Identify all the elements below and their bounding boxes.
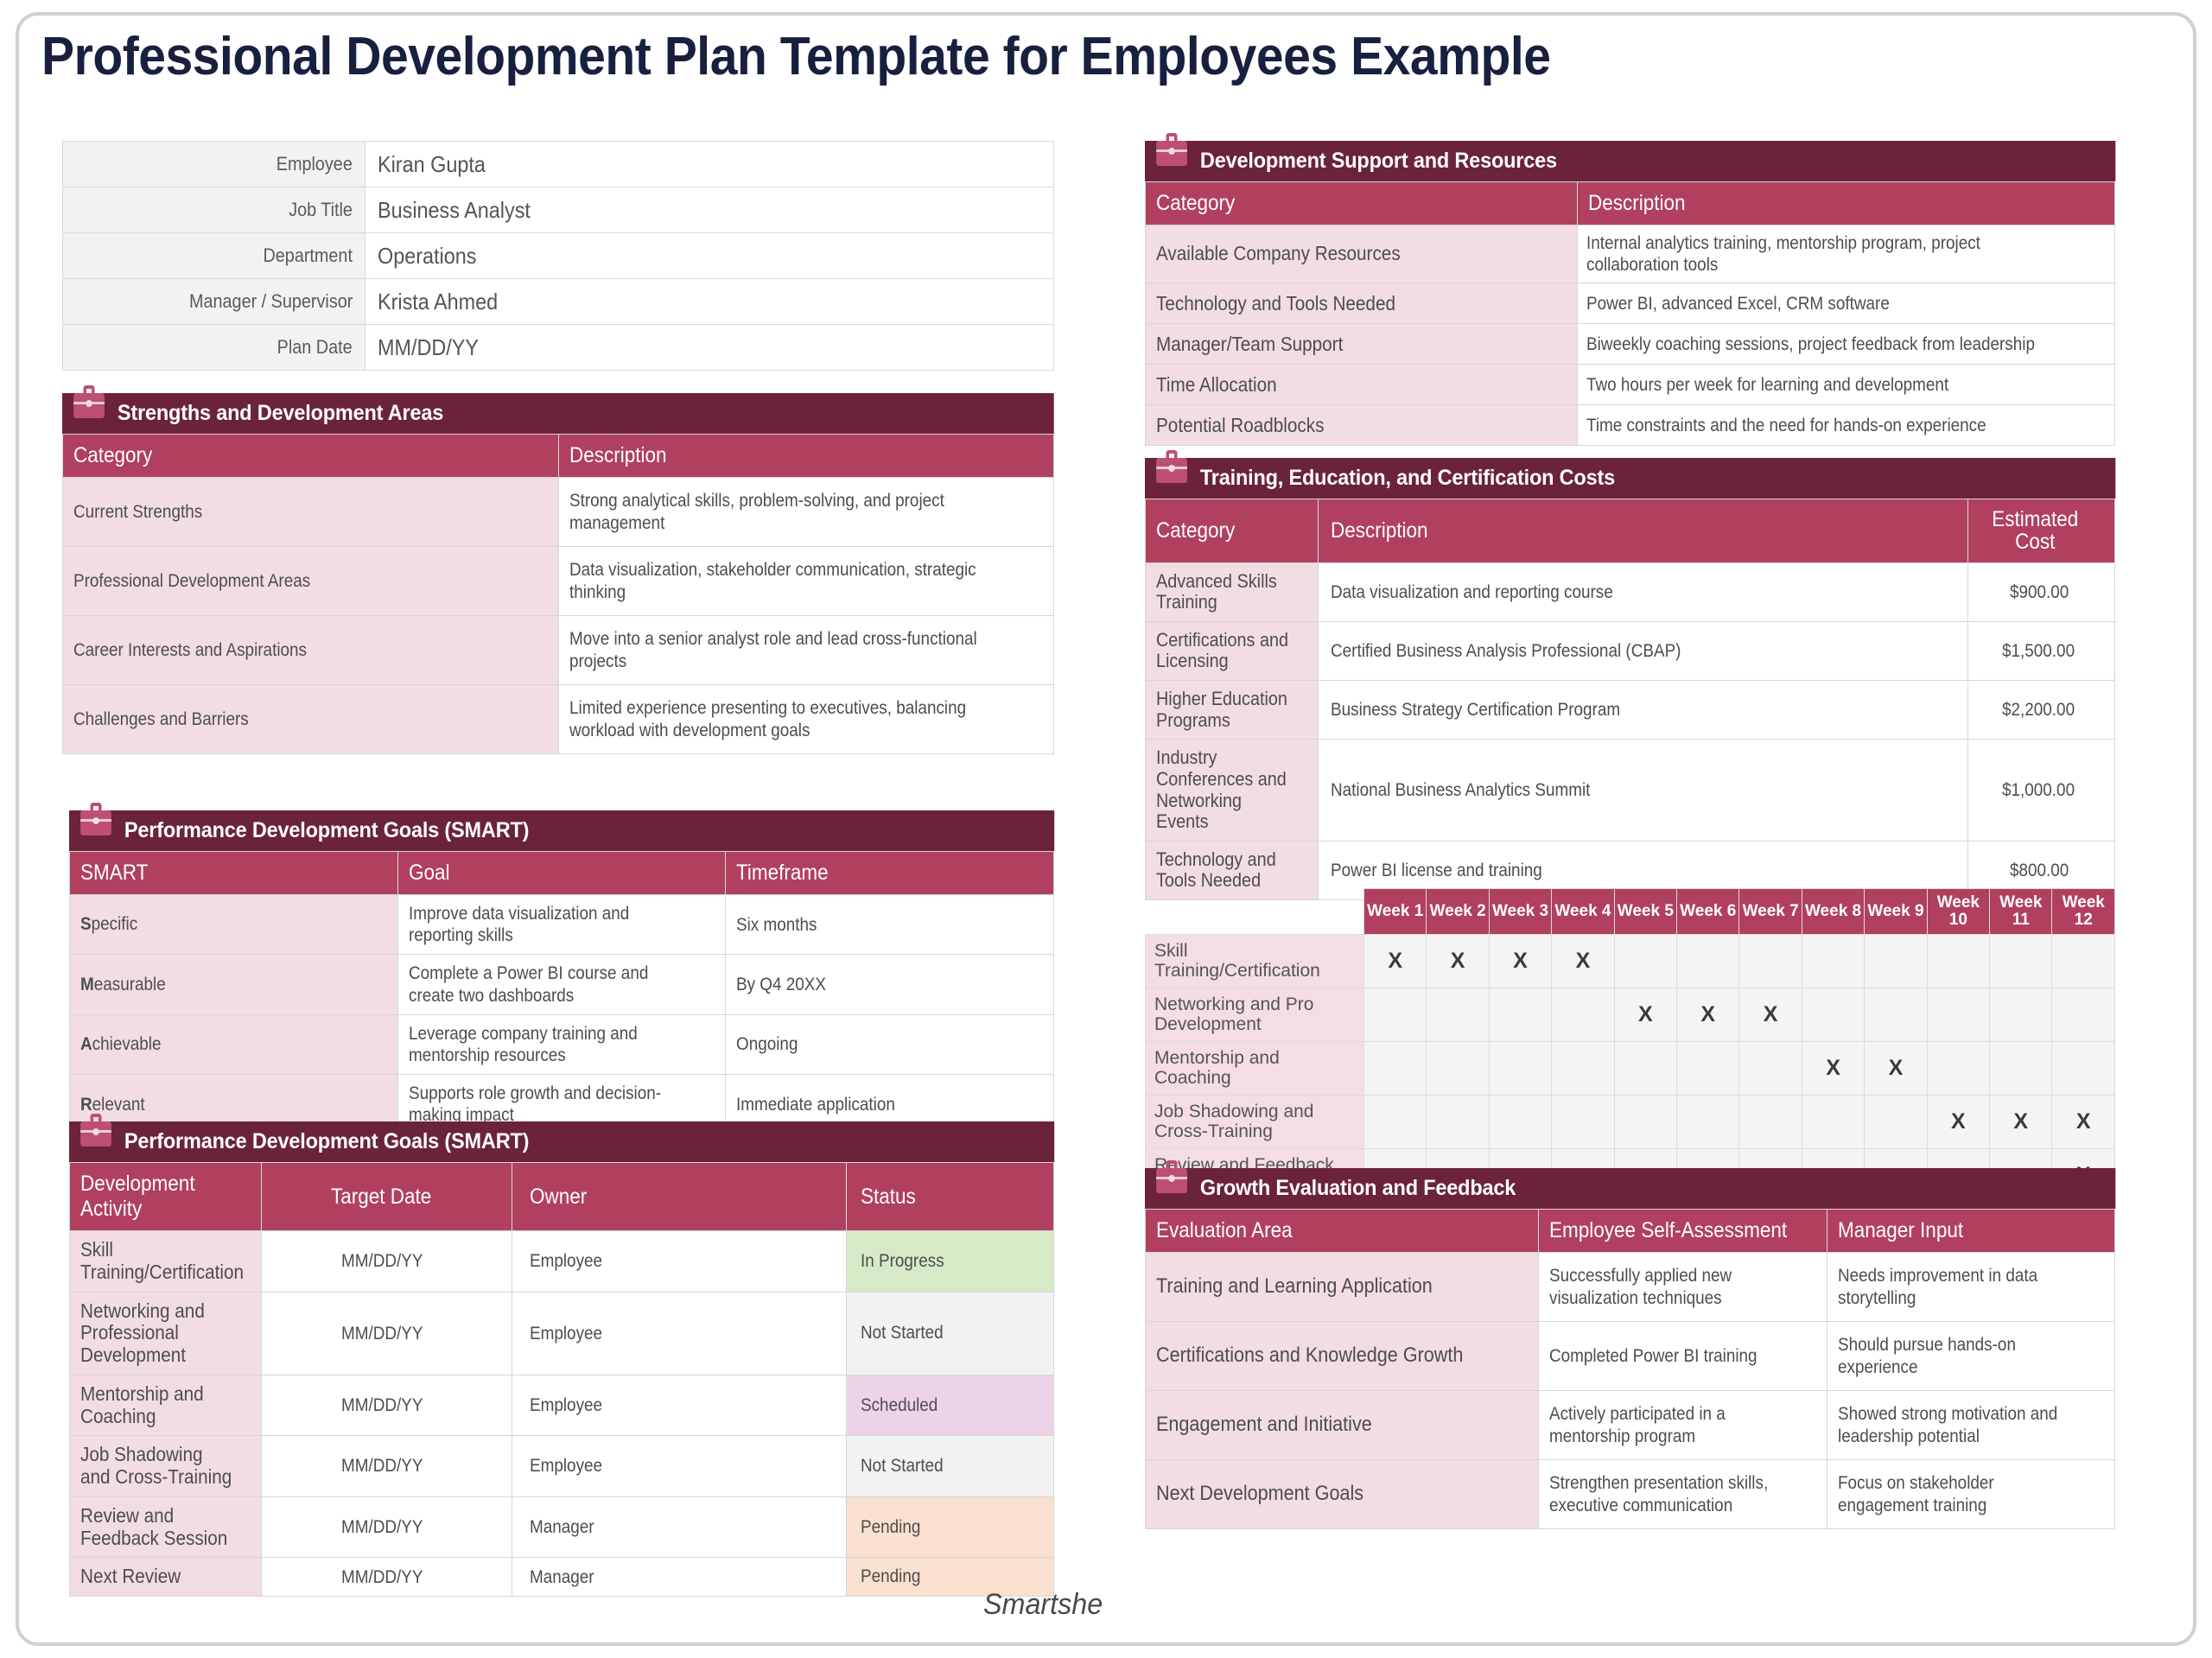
schedule-cell[interactable] (1927, 1041, 1989, 1095)
schedule-cell[interactable] (1552, 988, 1614, 1041)
schedule-cell[interactable] (1739, 1095, 1802, 1148)
schedule-cell[interactable] (1489, 988, 1551, 1041)
row-target-date[interactable]: MM/DD/YY (262, 1496, 512, 1558)
week-column-header: Week 2 (1427, 889, 1489, 935)
row-target-date[interactable]: MM/DD/YY (262, 1231, 512, 1293)
schedule-row-label: Mentorship and Coaching (1146, 1041, 1364, 1095)
status-badge[interactable]: Scheduled (847, 1375, 1054, 1436)
info-label: Department (63, 233, 365, 279)
row-category: Professional Development Areas (63, 547, 559, 616)
table-row: Training and Learning ApplicationSuccess… (1146, 1253, 2115, 1322)
schedule-cell[interactable]: X (1489, 934, 1551, 988)
row-description: Data visualization and reporting course (1319, 562, 1968, 621)
column-header-category: Category (1146, 499, 1319, 563)
row-target-date[interactable]: MM/DD/YY (262, 1292, 512, 1375)
row-owner: Manager (512, 1496, 847, 1558)
schedule-cell[interactable]: X (1739, 988, 1802, 1041)
row-owner: Employee (512, 1375, 847, 1436)
schedule-cell[interactable]: X (1364, 934, 1427, 988)
table-row: Advanced Skills TrainingData visualizati… (1146, 562, 2115, 621)
row-category: Potential Roadblocks (1146, 405, 1578, 446)
table-row: Manager/Team SupportBiweekly coaching se… (1146, 324, 2115, 365)
table-row: Time AllocationTwo hours per week for le… (1146, 365, 2115, 405)
schedule-cell[interactable] (1364, 988, 1427, 1041)
row-category: Higher Education Programs (1146, 681, 1319, 740)
schedule-cell[interactable] (1865, 934, 1927, 988)
row-description: Strong analytical skills, problem-solvin… (558, 478, 1054, 547)
row-manager-input: Needs improvement in data storytelling (1827, 1253, 2115, 1322)
row-activity: Networking and Professional Development (70, 1292, 262, 1375)
week-column-header: Week 7 (1739, 889, 1802, 935)
schedule-cell[interactable] (1927, 988, 1989, 1041)
info-label: Employee (63, 142, 365, 187)
info-value[interactable]: Krista Ahmed (365, 279, 1054, 325)
info-label: Job Title (63, 187, 365, 233)
schedule-cell[interactable]: X (1865, 1041, 1927, 1095)
column-header-timeframe: Timeframe (726, 852, 1054, 895)
status-badge[interactable]: Not Started (847, 1436, 1054, 1497)
row-target-date[interactable]: MM/DD/YY (262, 1375, 512, 1436)
employee-info-row: DepartmentOperations (63, 233, 1054, 279)
column-header-category: Category (1146, 182, 1578, 226)
row-activity: Job Shadowing and Cross-Training (70, 1436, 262, 1497)
row-category: Manager/Team Support (1146, 324, 1578, 365)
row-category: Certifications and Licensing (1146, 621, 1319, 680)
page-root: Professional Development Plan Template f… (0, 0, 2212, 1658)
info-value[interactable]: MM/DD/YY (365, 325, 1054, 371)
row-self-assessment: Strengthen presentation skills, executiv… (1539, 1460, 1827, 1529)
row-description: Power BI, advanced Excel, CRM software (1578, 283, 2115, 324)
table-row: Next Development GoalsStrengthen present… (1146, 1460, 2115, 1529)
schedule-cell[interactable] (1677, 1041, 1739, 1095)
column-header-target-date: Target Date (262, 1163, 512, 1231)
employee-info-row: Manager / SupervisorKrista Ahmed (63, 279, 1054, 325)
section-header: Strengths and Development Areas (62, 393, 1054, 434)
growth-evaluation-section: Growth Evaluation and Feedback Evaluatio… (1145, 1168, 2115, 1529)
row-manager-input: Showed strong motivation and leadership … (1827, 1391, 2115, 1460)
info-value[interactable]: Operations (365, 233, 1054, 279)
section-header: Growth Evaluation and Feedback (1145, 1168, 2115, 1209)
schedule-cell[interactable] (1802, 1095, 1864, 1148)
row-goal: Complete a Power BI course and create tw… (397, 955, 726, 1014)
schedule-cell[interactable] (1427, 1095, 1489, 1148)
row-category: Current Strengths (63, 478, 559, 547)
info-label: Manager / Supervisor (63, 279, 365, 325)
schedule-cell[interactable]: X (1990, 1095, 2052, 1148)
week-column-header: Week 11 (1990, 889, 2052, 935)
page-title: Professional Development Plan Template f… (41, 26, 1997, 87)
schedule-cell[interactable]: X (1802, 1041, 1864, 1095)
costs-section: Training, Education, and Certification C… (1145, 458, 2115, 900)
row-goal: Improve data visualization and reporting… (397, 895, 726, 955)
section-title: Growth Evaluation and Feedback (1200, 1176, 1516, 1201)
column-header-owner: Owner (512, 1163, 847, 1231)
schedule-cell[interactable] (1427, 1041, 1489, 1095)
row-description: Two hours per week for learning and deve… (1578, 365, 2115, 405)
schedule-cell[interactable] (1489, 1041, 1551, 1095)
row-timeframe: Ongoing (726, 1014, 1054, 1074)
strengths-section: Strengths and Development Areas Category… (62, 393, 1054, 754)
row-owner: Manager (512, 1558, 847, 1597)
table-row: Current StrengthsStrong analytical skill… (63, 478, 1054, 547)
schedule-cell[interactable]: X (1427, 934, 1489, 988)
week-column-header: Week 1 (1364, 889, 1427, 935)
employee-info-row: EmployeeKiran Gupta (63, 142, 1054, 187)
schedule-cell[interactable]: X (1552, 934, 1614, 988)
row-description: National Business Analytics Summit (1319, 740, 1968, 842)
briefcase-icon (80, 803, 111, 835)
row-evaluation-area: Next Development Goals (1146, 1460, 1539, 1529)
schedule-row-label: Skill Training/Certification (1146, 934, 1364, 988)
table-row: Networking and Professional DevelopmentM… (70, 1292, 1054, 1375)
schedule-cell[interactable] (1865, 988, 1927, 1041)
row-smart-letter: Achievable (70, 1014, 398, 1074)
row-description: Limited experience presenting to executi… (558, 685, 1054, 754)
table-row: Challenges and BarriersLimited experienc… (63, 685, 1054, 754)
row-category: Career Interests and Aspirations (63, 616, 559, 685)
column-header-description: Description (1319, 499, 1968, 563)
section-header: Performance Development Goals (SMART) (69, 810, 1054, 851)
table-row: Job Shadowing and Cross-TrainingMM/DD/YY… (70, 1436, 1054, 1497)
table-row: Industry Conferences and Networking Even… (1146, 740, 2115, 842)
column-header-category: Category (63, 435, 559, 478)
row-manager-input: Should pursue hands-on experience (1827, 1322, 2115, 1391)
schedule-cell[interactable] (2052, 1041, 2115, 1095)
schedule-cell[interactable] (1927, 934, 1989, 988)
row-description: Business Strategy Certification Program (1319, 681, 1968, 740)
table-row: Engagement and InitiativeActively partic… (1146, 1391, 2115, 1460)
status-badge[interactable]: Pending (847, 1496, 1054, 1558)
row-activity: Next Review (70, 1558, 262, 1597)
section-header: Performance Development Goals (SMART) (69, 1121, 1054, 1162)
table-row: Certifications and Knowledge GrowthCompl… (1146, 1322, 2115, 1391)
week-column-header: Week 8 (1802, 889, 1864, 935)
week-column-header: Week 3 (1489, 889, 1551, 935)
schedule-row: Networking and Pro DevelopmentXXX (1146, 988, 2115, 1041)
row-timeframe: Six months (726, 895, 1054, 955)
table-row: Certifications and LicensingCertified Bu… (1146, 621, 2115, 680)
table-row: Higher Education ProgramsBusiness Strate… (1146, 681, 2115, 740)
table-row: Available Company ResourcesInternal anal… (1146, 226, 2115, 283)
status-badge[interactable]: Not Started (847, 1292, 1054, 1375)
row-category: Challenges and Barriers (63, 685, 559, 754)
employee-info-table: EmployeeKiran GuptaJob TitleBusiness Ana… (62, 141, 1054, 371)
info-value[interactable]: Kiran Gupta (365, 142, 1054, 187)
week-column-header: Week 6 (1677, 889, 1739, 935)
row-timeframe: By Q4 20XX (726, 955, 1054, 1014)
week-column-header: Week 12 (2052, 889, 2115, 935)
row-estimated-cost: $2,200.00 (1968, 681, 2115, 740)
schedule-cell[interactable] (1489, 1095, 1551, 1148)
schedule-cell[interactable] (1427, 988, 1489, 1041)
table-row: Review and Feedback SessionMM/DD/YYManag… (70, 1496, 1054, 1558)
schedule-row: Job Shadowing and Cross-TrainingXXX (1146, 1095, 2115, 1148)
row-self-assessment: Completed Power BI training (1539, 1322, 1827, 1391)
schedule-cell[interactable] (1990, 988, 2052, 1041)
row-category: Advanced Skills Training (1146, 562, 1319, 621)
row-description: Internal analytics training, mentorship … (1578, 226, 2115, 283)
schedule-cell[interactable] (1364, 1041, 1427, 1095)
column-header-self-assessment: Employee Self-Assessment (1539, 1210, 1827, 1253)
section-title: Performance Development Goals (SMART) (124, 1129, 529, 1154)
column-header-activity: Development Activity (70, 1163, 262, 1231)
schedule-cell[interactable] (1677, 1095, 1739, 1148)
table-row: Next ReviewMM/DD/YYManagerPending (70, 1558, 1054, 1597)
row-description: Move into a senior analyst role and lead… (558, 616, 1054, 685)
week-column-header: Week 4 (1552, 889, 1614, 935)
row-category: Technology and Tools Needed (1146, 283, 1578, 324)
column-header-description: Description (558, 435, 1054, 478)
column-header-evaluation-area: Evaluation Area (1146, 1210, 1539, 1253)
section-header: Training, Education, and Certification C… (1145, 458, 2115, 499)
briefcase-icon (1156, 133, 1187, 166)
row-goal: Leverage company training and mentorship… (397, 1014, 726, 1074)
row-activity: Skill Training/Certification (70, 1231, 262, 1293)
column-header-estimated-cost: Estimated Cost (1968, 499, 2115, 563)
row-description: Time constraints and the need for hands-… (1578, 405, 2115, 446)
table-row: SpecificImprove data visualization and r… (70, 895, 1054, 955)
row-target-date[interactable]: MM/DD/YY (262, 1436, 512, 1497)
schedule-row-label: Job Shadowing and Cross-Training (1146, 1095, 1364, 1148)
row-evaluation-area: Engagement and Initiative (1146, 1391, 1539, 1460)
schedule-cell[interactable] (2052, 934, 2115, 988)
schedule-row: Skill Training/CertificationXXXX (1146, 934, 2115, 988)
schedule-cell[interactable] (1739, 1041, 1802, 1095)
column-header-status: Status (847, 1163, 1054, 1231)
schedule-cell[interactable] (1990, 1041, 2052, 1095)
info-value[interactable]: Business Analyst (365, 187, 1054, 233)
section-title: Performance Development Goals (SMART) (124, 818, 529, 843)
briefcase-icon (80, 1114, 111, 1147)
row-self-assessment: Actively participated in a mentorship pr… (1539, 1391, 1827, 1460)
weekly-schedule-grid: Week 1Week 2Week 3Week 4Week 5Week 6Week… (1145, 888, 2115, 1203)
briefcase-icon (1156, 450, 1187, 483)
row-manager-input: Focus on stakeholder engagement training (1827, 1460, 2115, 1529)
schedule-cell[interactable] (1990, 934, 2052, 988)
schedule-cell[interactable]: X (1677, 988, 1739, 1041)
row-evaluation-area: Certifications and Knowledge Growth (1146, 1322, 1539, 1391)
row-target-date[interactable]: MM/DD/YY (262, 1558, 512, 1597)
row-category: Time Allocation (1146, 365, 1578, 405)
briefcase-icon (1156, 1160, 1187, 1193)
employee-info-row: Job TitleBusiness Analyst (63, 187, 1054, 233)
row-category: Available Company Resources (1146, 226, 1578, 283)
schedule-cell[interactable] (1552, 1095, 1614, 1148)
employee-info-row: Plan DateMM/DD/YY (63, 325, 1054, 371)
row-estimated-cost: $1,000.00 (1968, 740, 2115, 842)
briefcase-icon (73, 385, 105, 418)
schedule-cell[interactable] (1614, 1095, 1676, 1148)
schedule-cell[interactable] (1739, 934, 1802, 988)
table-row: Mentorship and CoachingMM/DD/YYEmployeeS… (70, 1375, 1054, 1436)
week-column-header: Week 10 (1927, 889, 1989, 935)
schedule-cell[interactable] (1865, 1095, 1927, 1148)
schedule-cell[interactable] (1614, 934, 1676, 988)
schedule-cell[interactable] (1802, 988, 1864, 1041)
section-header: Development Support and Resources (1145, 141, 2115, 181)
schedule-cell[interactable] (1677, 934, 1739, 988)
schedule-cell[interactable]: X (1927, 1095, 1989, 1148)
schedule-row-label: Networking and Pro Development (1146, 988, 1364, 1041)
row-smart-letter: Measurable (70, 955, 398, 1014)
grid-corner (1146, 889, 1364, 935)
row-activity: Review and Feedback Session (70, 1496, 262, 1558)
row-estimated-cost: $1,500.00 (1968, 621, 2115, 680)
section-title: Strengths and Development Areas (118, 401, 443, 426)
support-resources-section: Development Support and Resources Catego… (1145, 141, 2115, 446)
schedule-cell[interactable] (1614, 1041, 1676, 1095)
row-description: Certified Business Analysis Professional… (1319, 621, 1968, 680)
row-owner: Employee (512, 1436, 847, 1497)
table-row: Professional Development AreasData visua… (63, 547, 1054, 616)
row-description: Biweekly coaching sessions, project feed… (1578, 324, 2115, 365)
section-title: Development Support and Resources (1200, 149, 1557, 174)
table-row: Career Interests and AspirationsMove int… (63, 616, 1054, 685)
row-evaluation-area: Training and Learning Application (1146, 1253, 1539, 1322)
table-row: Technology and Tools NeededPower BI, adv… (1146, 283, 2115, 324)
row-category: Industry Conferences and Networking Even… (1146, 740, 1319, 842)
schedule-cell[interactable]: X (2052, 1095, 2115, 1148)
row-activity: Mentorship and Coaching (70, 1375, 262, 1436)
row-self-assessment: Successfully applied new visualization t… (1539, 1253, 1827, 1322)
table-row: Skill Training/CertificationMM/DD/YYEmpl… (70, 1231, 1054, 1293)
table-row: Potential RoadblocksTime constraints and… (1146, 405, 2115, 446)
row-smart-letter: Specific (70, 895, 398, 955)
schedule-cell[interactable] (2052, 988, 2115, 1041)
week-column-header: Week 5 (1614, 889, 1676, 935)
schedule-cell[interactable] (1552, 1041, 1614, 1095)
status-badge[interactable]: In Progress (847, 1231, 1054, 1293)
column-header-manager-input: Manager Input (1827, 1210, 2115, 1253)
section-title: Training, Education, and Certification C… (1200, 466, 1615, 491)
table-row: AchievableLeverage company training and … (70, 1014, 1054, 1074)
row-owner: Employee (512, 1292, 847, 1375)
week-column-header: Week 9 (1865, 889, 1927, 935)
column-header-description: Description (1578, 182, 2115, 226)
schedule-row: Mentorship and CoachingXX (1146, 1041, 2115, 1095)
info-label: Plan Date (63, 325, 365, 371)
schedule-cell[interactable] (1802, 934, 1864, 988)
footer-brand: Smartshe (983, 1588, 1103, 1622)
schedule-cell[interactable] (1364, 1095, 1427, 1148)
row-owner: Employee (512, 1231, 847, 1293)
development-activities-section: Performance Development Goals (SMART) De… (69, 1121, 1054, 1597)
column-header-smart: SMART (70, 852, 398, 895)
row-description: Data visualization, stakeholder communic… (558, 547, 1054, 616)
table-row: MeasurableComplete a Power BI course and… (70, 955, 1054, 1014)
row-estimated-cost: $900.00 (1968, 562, 2115, 621)
schedule-cell[interactable]: X (1614, 988, 1676, 1041)
column-header-goal: Goal (397, 852, 726, 895)
